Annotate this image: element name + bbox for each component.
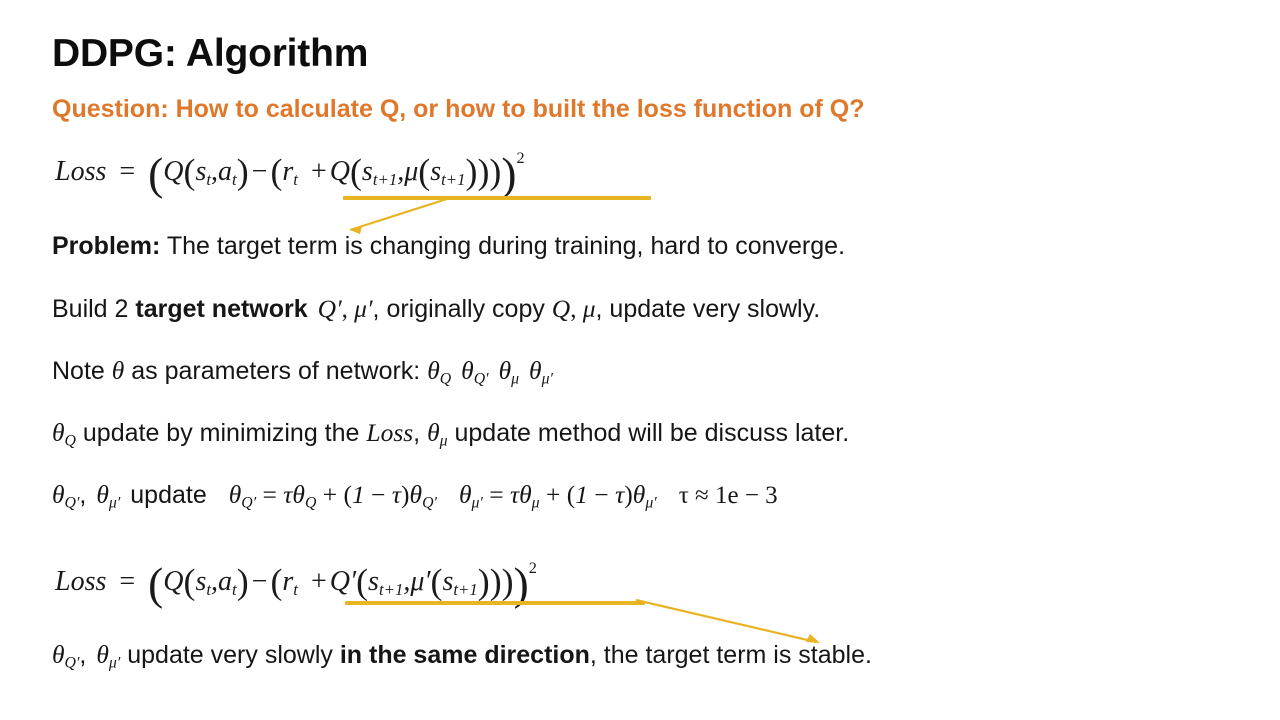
- build-prefix: Build 2: [52, 295, 135, 323]
- eq2-s-mu-sub: t+1: [453, 580, 477, 599]
- eq2-q: Q: [163, 566, 183, 597]
- eq2-s-next: s: [368, 566, 379, 597]
- note-param-theta-q: θQ: [427, 356, 451, 385]
- build-math-comma-2: ,: [570, 296, 583, 323]
- build-middle: , originally copy: [373, 295, 552, 323]
- note-param-theta-mu-prime: θμ′: [529, 356, 553, 385]
- eq1-s-next-sub: t+1: [373, 170, 397, 189]
- eq2-close-q: ): [237, 562, 249, 602]
- conclusion-comma-1: ,: [79, 641, 86, 669]
- conclusion-theta-q-prime: θQ′: [52, 640, 79, 669]
- page-title: DDPG: Algorithm: [52, 32, 368, 76]
- eq1-q-target: Q: [330, 156, 350, 187]
- eq1-open-outer: (: [148, 149, 163, 199]
- soft-update-formula-mu: θμ′ = τθμ + (1 − τ)θμ′: [459, 480, 657, 509]
- theta-q-symbol: θQ: [52, 418, 76, 447]
- eq2-open-target: (: [270, 562, 282, 602]
- note-middle: as parameters of network:: [124, 357, 427, 385]
- build-math-comma-1: ,: [342, 296, 355, 323]
- line-soft-update: θQ′,θμ′updateθQ′ = τθQ + (1 − τ)θQ′θμ′ =…: [52, 480, 778, 512]
- line-theta-q-update: θQ update by minimizing the Loss, θμ upd…: [52, 418, 849, 450]
- soft-update-tau-value: τ ≈ 1e − 3: [679, 482, 778, 509]
- eq2-s-mu: s: [442, 566, 453, 597]
- eq1-close-mu: ): [466, 152, 478, 192]
- eq1-comma-1: ,: [211, 156, 218, 187]
- eq1-close-q-target: ): [477, 152, 489, 192]
- soft-update-comma-1: ,: [79, 481, 86, 509]
- soft-update-verb: update: [130, 481, 206, 509]
- note-param-theta-q-prime: θQ′: [461, 356, 488, 385]
- eq2-mu-prime: μ′: [410, 566, 430, 597]
- eq2-exponent: 2: [529, 559, 537, 577]
- eq2-minus: −: [249, 566, 271, 597]
- line-conclusion: θQ′,θμ′ update very slowly in the same d…: [52, 640, 872, 672]
- eq1-minus: −: [249, 156, 271, 187]
- note-prefix: Note: [52, 357, 112, 385]
- equation-loss-1: Loss=(Q(st,at)−(rt+Q(st+1,μ(st+1))))2: [55, 148, 525, 200]
- eq1-open-mu: (: [418, 152, 430, 192]
- build-math-mu: μ: [583, 294, 596, 323]
- eq1-close-q: ): [237, 152, 249, 192]
- note-param-theta-mu: θμ: [499, 356, 519, 385]
- soft-update-lhs-theta-mu-prime: θμ′: [96, 480, 120, 509]
- line-note-parameters: Note θ as parameters of network: θQθQ′θμ…: [52, 356, 553, 388]
- eq1-a: a: [218, 156, 232, 187]
- eq1-open-q: (: [184, 152, 196, 192]
- eq2-r-sub: t: [293, 580, 298, 599]
- question-statement: Question: How to calculate Q, or how to …: [52, 95, 865, 124]
- eq2-plus: +: [308, 566, 330, 597]
- conclusion-prefix: update very slowly: [120, 641, 340, 669]
- eq2-s: s: [195, 566, 206, 597]
- eq1-close-target: ): [489, 152, 501, 192]
- eq1-mu: μ: [404, 156, 418, 187]
- theta-q-update-prefix: update by minimizing the: [76, 419, 366, 447]
- eq2-q-prime: Q′: [330, 566, 356, 597]
- eq2-open-outer: (: [148, 559, 163, 609]
- conclusion-bold-same-direction: in the same direction: [340, 641, 590, 669]
- build-math-mu-prime: μ′: [354, 294, 372, 323]
- eq2-open-mu: (: [431, 562, 443, 602]
- eq1-r: r: [282, 156, 293, 187]
- eq1-r-sub: t: [293, 170, 298, 189]
- note-theta-symbol: θ: [112, 356, 125, 385]
- slide-canvas: DDPG: Algorithm Question: How to calcula…: [0, 0, 1280, 720]
- eq1-loss-label: Loss: [55, 156, 106, 187]
- eq2-close-mu: ): [478, 562, 490, 602]
- build-suffix: , update very slowly.: [596, 295, 821, 323]
- soft-update-lhs-theta-q-prime: θQ′: [52, 480, 79, 509]
- target-term-underline-2: [345, 601, 645, 605]
- build-bold-target-network: target network: [135, 295, 307, 323]
- problem-bold-lead: Problem:: [52, 232, 160, 260]
- eq2-open-q-target: (: [356, 562, 368, 602]
- eq1-close-outer: ): [501, 149, 516, 199]
- conclusion-theta-mu-prime: θμ′: [96, 640, 120, 669]
- eq2-comma-1: ,: [211, 566, 218, 597]
- eq1-q: Q: [163, 156, 183, 187]
- eq1-s-mu: s: [430, 156, 441, 187]
- theta-q-update-suffix: update method will be discuss later.: [448, 419, 850, 447]
- eq2-equals: =: [116, 566, 138, 597]
- theta-q-update-loss: Loss: [366, 418, 413, 447]
- theta-mu-symbol: θμ: [427, 418, 447, 447]
- eq1-open-target: (: [270, 152, 282, 192]
- eq2-s-next-sub: t+1: [379, 580, 403, 599]
- target-term-underline-1: [343, 196, 651, 200]
- eq2-r: r: [282, 566, 293, 597]
- eq2-open-q: (: [184, 562, 196, 602]
- eq1-s-next: s: [362, 156, 373, 187]
- eq1-open-q-target: (: [350, 152, 362, 192]
- eq1-s: s: [195, 156, 206, 187]
- eq2-loss-label: Loss: [55, 566, 106, 597]
- eq1-plus: +: [308, 156, 330, 187]
- build-math-q: Q: [552, 294, 570, 323]
- eq2-close-q-target: ): [490, 562, 502, 602]
- eq1-s-mu-sub: t+1: [441, 170, 465, 189]
- build-math-q-prime: Q′: [318, 294, 342, 323]
- eq1-equals: =: [116, 156, 138, 187]
- soft-update-formula-q: θQ′ = τθQ + (1 − τ)θQ′: [229, 480, 437, 509]
- eq1-exponent: 2: [516, 149, 524, 167]
- line-problem: Problem: The target term is changing dur…: [52, 232, 845, 261]
- problem-rest: The target term is changing during train…: [160, 232, 845, 260]
- line-build-target-network: Build 2 target networkQ′, μ′, originally…: [52, 294, 820, 324]
- eq2-a: a: [218, 566, 232, 597]
- theta-q-update-comma: ,: [413, 419, 427, 447]
- eq2-close-target: ): [502, 562, 514, 602]
- conclusion-suffix: , the target term is stable.: [590, 641, 872, 669]
